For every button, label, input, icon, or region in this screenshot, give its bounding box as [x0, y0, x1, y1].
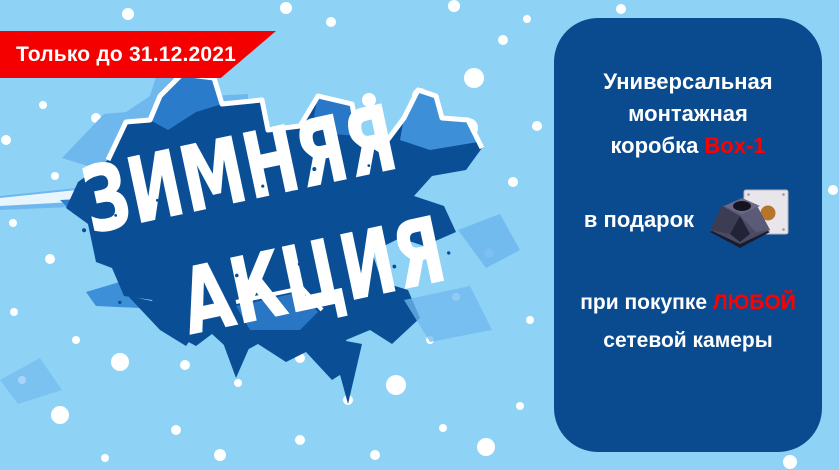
- offer-panel: Универсальная монтажная коробка Box-1 в …: [554, 18, 822, 452]
- offer-product-name: Box-1: [704, 133, 765, 158]
- snowflake: [783, 455, 797, 469]
- gift-row: в подарок: [554, 188, 822, 252]
- offer-line-4: при покупке ЛЮБОЙ: [554, 288, 822, 318]
- plate-screw-br: [782, 228, 785, 231]
- ice-facet-bottom-left: [0, 358, 62, 404]
- plate-screw-tl: [747, 193, 750, 196]
- ribbon-date-text: Только до 31.12.2021: [0, 43, 236, 67]
- plate-screw-tr: [782, 193, 785, 196]
- offer-line-3-prefix: коробка: [610, 133, 704, 158]
- offer-line-5: сетевой камеры: [554, 326, 822, 356]
- offer-line-1: Универсальная: [603, 66, 772, 98]
- ice-facet-right-b: [404, 286, 492, 342]
- offer-line-3: коробка Box-1: [610, 130, 765, 162]
- offer-line-4-prefix: при покупке: [580, 291, 713, 314]
- offer-line-4-accent: ЛЮБОЙ: [713, 291, 796, 314]
- snowflake: [616, 4, 626, 14]
- junction-box-svg: [700, 188, 792, 252]
- gift-label: в подарок: [584, 204, 694, 236]
- box-center-hole: [733, 201, 751, 211]
- ice-facet-right-a: [458, 214, 520, 268]
- junction-box-product-photo: [700, 188, 792, 252]
- promo-banner: ЗИМНЯЯ АКЦИЯ Только до 31.12.2021: [0, 0, 839, 470]
- offer-line-2: монтажная: [628, 98, 748, 130]
- purchase-condition-block: при покупке ЛЮБОЙ сетевой камеры: [554, 288, 822, 357]
- ice-spike-left2: [222, 340, 250, 378]
- snowflake: [828, 185, 838, 195]
